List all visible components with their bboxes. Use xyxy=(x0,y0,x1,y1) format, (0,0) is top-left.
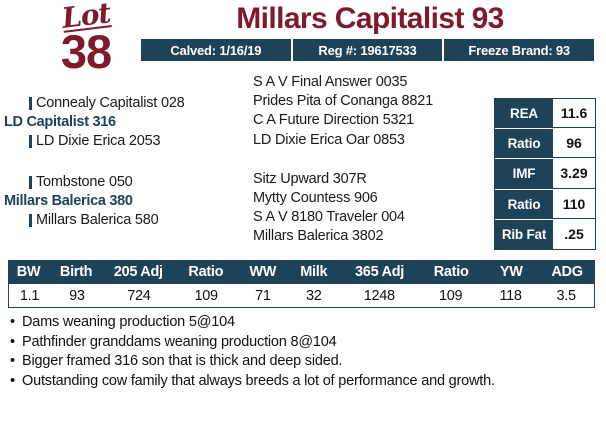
column-header: Birth xyxy=(49,260,103,284)
lot-badge: Lot 38 xyxy=(34,2,138,72)
pedigree-sire: LD Capitalist 316 xyxy=(0,113,250,132)
table-row: IMF 3.29 xyxy=(495,159,595,189)
table-cell: 1248 xyxy=(340,284,418,307)
pedigree-dam: Millars Balerica 380 xyxy=(0,192,250,211)
measurement-label: Ratio xyxy=(495,190,553,219)
table-cell: 118 xyxy=(483,284,539,307)
measurement-value: 110 xyxy=(553,190,595,219)
pedigree-sire-grandsire: Connealy Capitalist 028 xyxy=(0,94,250,113)
performance-table: BW Birth 205 Adj Ratio WW Milk 365 Adj R… xyxy=(8,260,595,308)
column-header: Ratio xyxy=(419,260,484,284)
measurement-value: 11.6 xyxy=(553,99,595,128)
lot-number: 38 xyxy=(34,31,138,72)
pedigree-ancestor-line: Millars Balerica 3802 xyxy=(253,227,493,246)
measurement-value: 3.29 xyxy=(553,159,595,188)
column-header: Ratio xyxy=(174,260,239,284)
pedigree-ancestor-line: S A V 8180 Traveler 004 xyxy=(253,208,493,227)
info-cell-freeze-brand: Freeze Brand: 93 xyxy=(444,39,594,61)
column-header: 205 Adj xyxy=(103,260,173,284)
list-item: Pathfinder granddams weaning production … xyxy=(10,333,598,353)
table-row: Rib Fat .25 xyxy=(495,220,595,249)
measurement-label: IMF xyxy=(495,159,553,188)
carcass-measurement-table: REA 11.6 Ratio 96 IMF 3.29 Ratio 110 Rib… xyxy=(494,98,596,250)
pedigree-sire-group: Connealy Capitalist 028 LD Capitalist 31… xyxy=(0,94,250,151)
column-header: BW xyxy=(8,260,49,284)
list-item: Outstanding cow family that always breed… xyxy=(10,372,598,392)
list-item: Dams weaning production 5@104 xyxy=(10,313,598,333)
measurement-value: 96 xyxy=(553,129,595,158)
info-cell-calved: Calved: 1/16/19 xyxy=(141,39,293,61)
table-cell: 71 xyxy=(238,284,287,307)
page-title: Millars Capitalist 93 xyxy=(140,3,600,35)
column-header: Milk xyxy=(287,260,340,284)
performance-table-data-row: 1.1 93 724 109 71 32 1248 109 118 3.5 xyxy=(8,284,595,308)
info-cell-registration: Reg #: 19617533 xyxy=(293,39,445,61)
pedigree-center-column: S A V Final Answer 0035 Prides Pita of C… xyxy=(253,73,493,247)
table-row: Ratio 110 xyxy=(495,190,595,220)
pedigree-dam-grandsire: Tombstone 050 xyxy=(0,173,250,192)
table-cell: 93 xyxy=(50,284,104,307)
table-cell: 109 xyxy=(418,284,482,307)
column-header: 365 Adj xyxy=(340,260,419,284)
pedigree-ancestor-line: Mytty Countess 906 xyxy=(253,189,493,208)
pedigree-sire-granddam: LD Dixie Erica 2053 xyxy=(0,132,250,151)
list-item: Bigger framed 316 son that is thick and … xyxy=(10,352,598,372)
table-cell: 109 xyxy=(174,284,238,307)
measurement-value: .25 xyxy=(553,220,595,249)
pedigree-dam-group: Tombstone 050 Millars Balerica 380 Milla… xyxy=(0,173,250,230)
measurement-label: Ratio xyxy=(495,129,553,158)
table-row: REA 11.6 xyxy=(495,99,595,129)
pedigree-dam-ancestors: Sitz Upward 307R Mytty Countess 906 S A … xyxy=(253,170,493,247)
pedigree-left-column: Connealy Capitalist 028 LD Capitalist 31… xyxy=(0,94,250,230)
pedigree-dam-granddam: Millars Balerica 580 xyxy=(0,211,250,230)
info-bar: Calved: 1/16/19 Reg #: 19617533 Freeze B… xyxy=(141,39,594,61)
table-cell: 3.5 xyxy=(538,284,594,307)
table-cell: 32 xyxy=(287,284,340,307)
column-header: ADG xyxy=(539,260,595,284)
performance-table-header-row: BW Birth 205 Adj Ratio WW Milk 365 Adj R… xyxy=(8,260,595,284)
notes-list: Dams weaning production 5@104 Pathfinder… xyxy=(10,313,598,391)
table-row: Ratio 96 xyxy=(495,129,595,159)
table-cell: 1.1 xyxy=(9,284,50,307)
lot-script-label: Lot xyxy=(60,0,111,33)
measurement-label: REA xyxy=(495,99,553,128)
table-cell: 724 xyxy=(104,284,174,307)
pedigree-sire-ancestors: S A V Final Answer 0035 Prides Pita of C… xyxy=(253,73,493,150)
pedigree-ancestor-line: S A V Final Answer 0035 xyxy=(253,73,493,92)
pedigree-ancestor-line: C A Future Direction 5321 xyxy=(253,111,493,130)
pedigree-ancestor-line: LD Dixie Erica Oar 0853 xyxy=(253,131,493,150)
pedigree-ancestor-line: Sitz Upward 307R xyxy=(253,170,493,189)
pedigree-ancestor-line: Prides Pita of Conanga 8821 xyxy=(253,92,493,111)
measurement-label: Rib Fat xyxy=(495,220,553,249)
column-header: YW xyxy=(483,260,539,284)
column-header: WW xyxy=(238,260,287,284)
